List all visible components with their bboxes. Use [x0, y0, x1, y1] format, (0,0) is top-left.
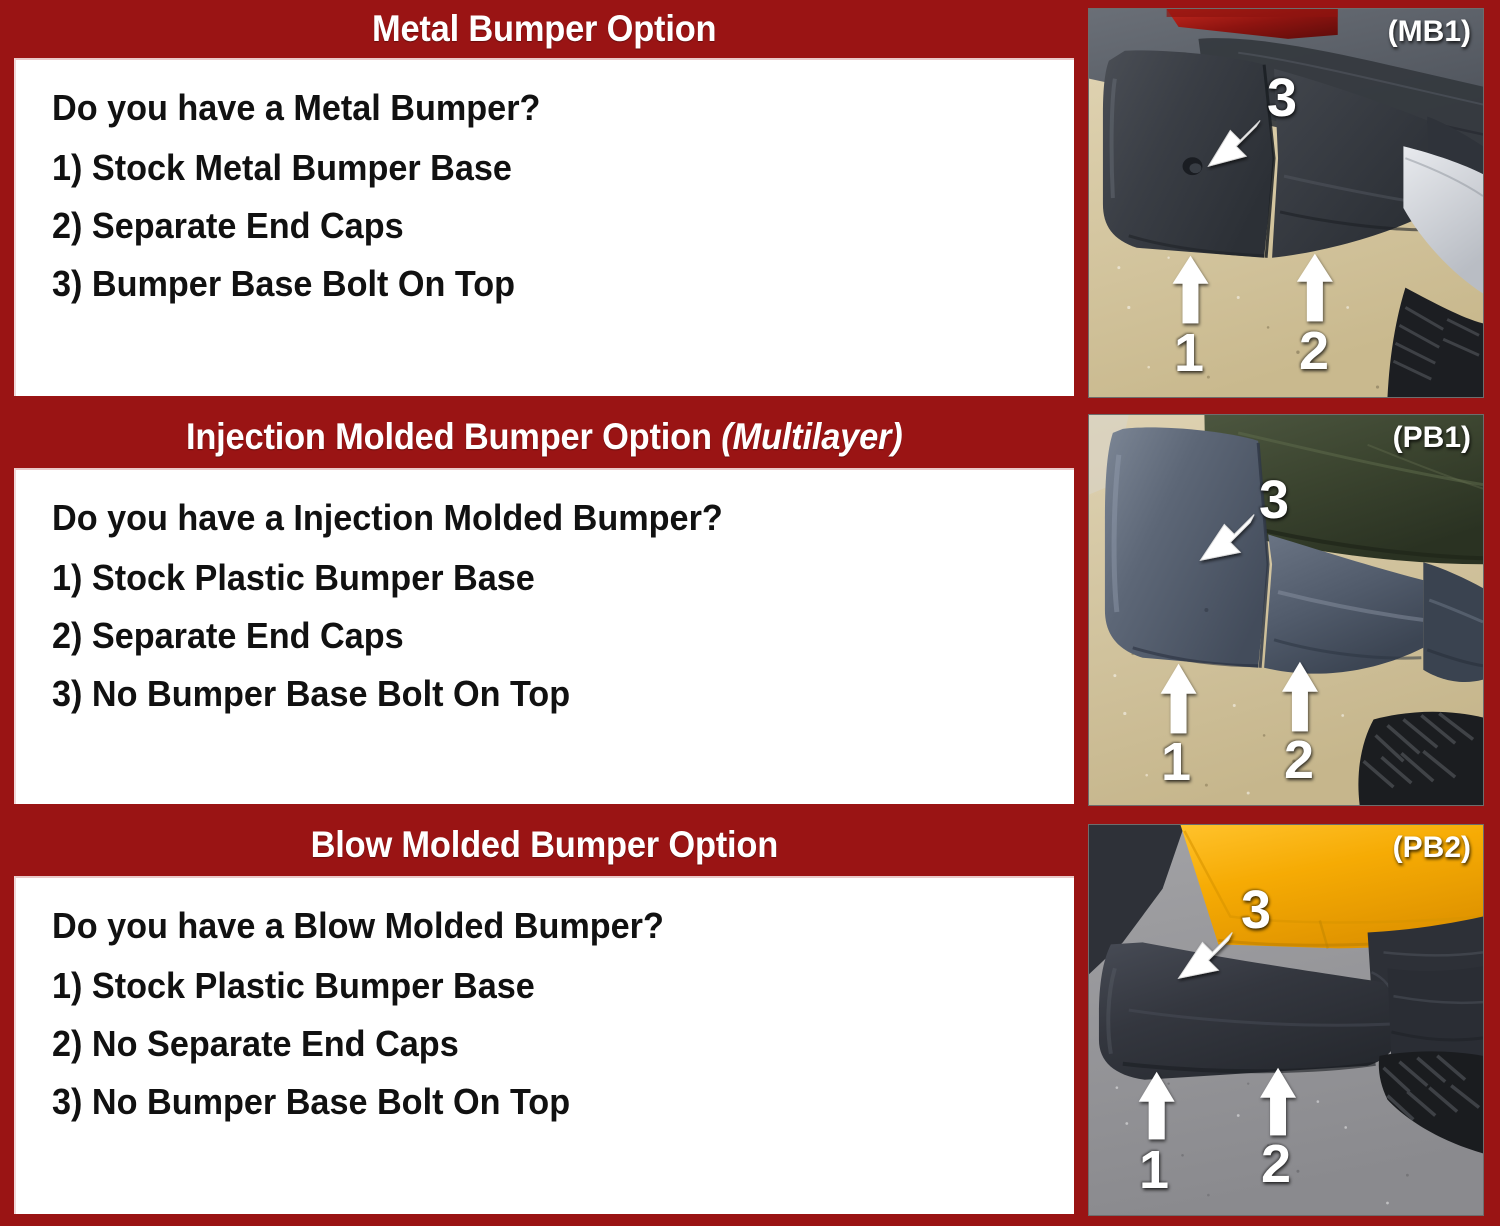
- photo-column-blow: (PB2) 3 1 2: [1088, 824, 1484, 1216]
- bumper-option-chart: Metal Bumper Option Do you have a Metal …: [0, 0, 1500, 1226]
- text-column-blow: Blow Molded Bumper Option Do you have a …: [14, 814, 1074, 1226]
- callout-label-2-metal: 2: [1299, 324, 1329, 378]
- callout-label-3-metal: 3: [1267, 71, 1297, 125]
- bullet-blow-3: 3) No Bumper Base Bolt On Top: [52, 1084, 1023, 1120]
- photo-code-blow: (PB2): [1393, 831, 1471, 865]
- bullet-metal-3: 3) Bumper Base Bolt On Top: [52, 266, 1023, 302]
- bullet-injection-1: 1) Stock Plastic Bumper Base: [52, 560, 1023, 596]
- callout-label-3-blow: 3: [1241, 883, 1271, 937]
- question-injection: Do you have a Injection Molded Bumper?: [52, 500, 1023, 536]
- bullet-blow-2: 2) No Separate End Caps: [52, 1026, 1023, 1062]
- photo-code-metal: (MB1): [1388, 15, 1471, 49]
- callout-label-2-blow: 2: [1261, 1137, 1291, 1191]
- text-column-metal: Metal Bumper Option Do you have a Metal …: [14, 0, 1074, 406]
- callout-label-1-injection: 1: [1161, 735, 1191, 789]
- photo-blow-bumper: (PB2) 3 1 2: [1088, 824, 1484, 1216]
- photo-injection-bumper: (PB1) 3 1 2: [1088, 414, 1484, 806]
- panel-title-injection-main: Injection Molded Bumper Option: [186, 416, 712, 457]
- title-bar-injection: Injection Molded Bumper Option (Multilay…: [14, 406, 1074, 468]
- panel-metal-bumper: Metal Bumper Option Do you have a Metal …: [0, 0, 1500, 406]
- panel-title-metal: Metal Bumper Option: [372, 8, 716, 50]
- panel-blow-molded-bumper: Blow Molded Bumper Option Do you have a …: [0, 814, 1500, 1226]
- content-box-injection: Do you have a Injection Molded Bumper? 1…: [14, 468, 1074, 804]
- bullet-metal-2: 2) Separate End Caps: [52, 208, 1023, 244]
- bullet-injection-2: 2) Separate End Caps: [52, 618, 1023, 654]
- title-bar-blow: Blow Molded Bumper Option: [14, 814, 1074, 876]
- content-box-metal: Do you have a Metal Bumper? 1) Stock Met…: [14, 58, 1074, 396]
- callout-label-2-injection: 2: [1284, 733, 1314, 787]
- bullet-blow-1: 1) Stock Plastic Bumper Base: [52, 968, 1023, 1004]
- callout-label-1-blow: 1: [1139, 1143, 1169, 1197]
- title-bar-metal: Metal Bumper Option: [14, 0, 1074, 58]
- panel-title-injection: Injection Molded Bumper Option (Multilay…: [186, 416, 903, 458]
- panel-title-injection-suffix: (Multilayer): [721, 416, 902, 457]
- question-metal: Do you have a Metal Bumper?: [52, 90, 1023, 126]
- panel-title-blow: Blow Molded Bumper Option: [310, 824, 777, 866]
- content-box-blow: Do you have a Blow Molded Bumper? 1) Sto…: [14, 876, 1074, 1214]
- bullet-metal-1: 1) Stock Metal Bumper Base: [52, 150, 1023, 186]
- callout-label-3-injection: 3: [1259, 473, 1289, 527]
- panel-injection-molded-bumper: Injection Molded Bumper Option (Multilay…: [0, 406, 1500, 814]
- text-column-injection: Injection Molded Bumper Option (Multilay…: [14, 406, 1074, 814]
- photo-column-injection: (PB1) 3 1 2: [1088, 414, 1484, 806]
- photo-code-injection: (PB1): [1393, 421, 1471, 455]
- callout-label-1-metal: 1: [1174, 326, 1204, 380]
- photo-metal-bumper: (MB1) 3 1 2: [1088, 8, 1484, 398]
- photo-column-metal: (MB1) 3 1 2: [1088, 8, 1484, 398]
- question-blow: Do you have a Blow Molded Bumper?: [52, 908, 1023, 944]
- bullet-injection-3: 3) No Bumper Base Bolt On Top: [52, 676, 1023, 712]
